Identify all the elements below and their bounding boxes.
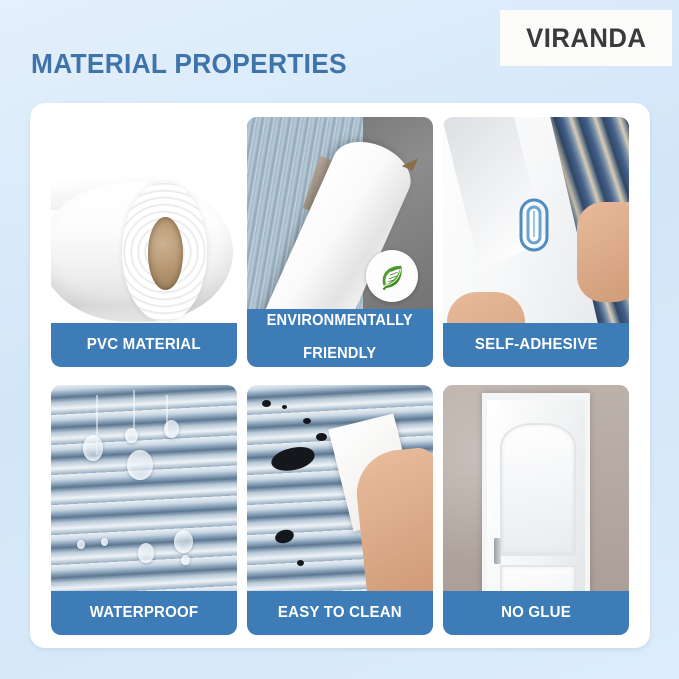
brand-logo-box: VIRANDA [500,10,672,66]
feature-label-text: NO GLUE [501,605,571,621]
paperclip-icon [517,197,551,253]
feature-label-environmentally-friendly: ENVIRONMENTALLY FRIENDLY [247,309,433,367]
infographic-page: MATERIAL PROPERTIES VIRANDA PVC MATERIAL [0,0,679,679]
feature-label-text-line2: FRIENDLY [267,346,413,362]
feature-cell-no-glue[interactable]: NO GLUE [443,385,629,635]
feature-label-text: EASY TO CLEAN [278,605,402,621]
feature-label-no-glue: NO GLUE [443,591,629,635]
brand-name: VIRANDA [526,23,646,54]
feature-cell-easy-to-clean[interactable]: EASY TO CLEAN [247,385,433,635]
features-grid: PVC MATERIAL [51,117,629,635]
feature-cell-self-adhesive[interactable]: SELF-ADHESIVE [443,117,629,367]
feature-label-text: SELF-ADHESIVE [475,337,598,353]
feature-label-self-adhesive: SELF-ADHESIVE [443,323,629,367]
feature-cell-pvc-material[interactable]: PVC MATERIAL [51,117,237,367]
feature-label-easy-to-clean: EASY TO CLEAN [247,591,433,635]
features-card: PVC MATERIAL [30,103,650,648]
feature-cell-waterproof[interactable]: WATERPROOF [51,385,237,635]
hand-right [577,202,629,302]
feature-label-text: PVC MATERIAL [87,337,201,353]
feature-label-text: WATERPROOF [90,605,199,621]
page-title: MATERIAL PROPERTIES [31,48,347,80]
feature-label-text-line1: ENVIRONMENTALLY [267,313,413,329]
door-handle [494,538,501,564]
feature-cell-environmentally-friendly[interactable]: ENVIRONMENTALLY FRIENDLY [247,117,433,367]
cardboard-core [148,217,183,290]
feature-label-pvc-material: PVC MATERIAL [51,323,237,367]
feature-label-waterproof: WATERPROOF [51,591,237,635]
leaf-icon [366,250,418,302]
